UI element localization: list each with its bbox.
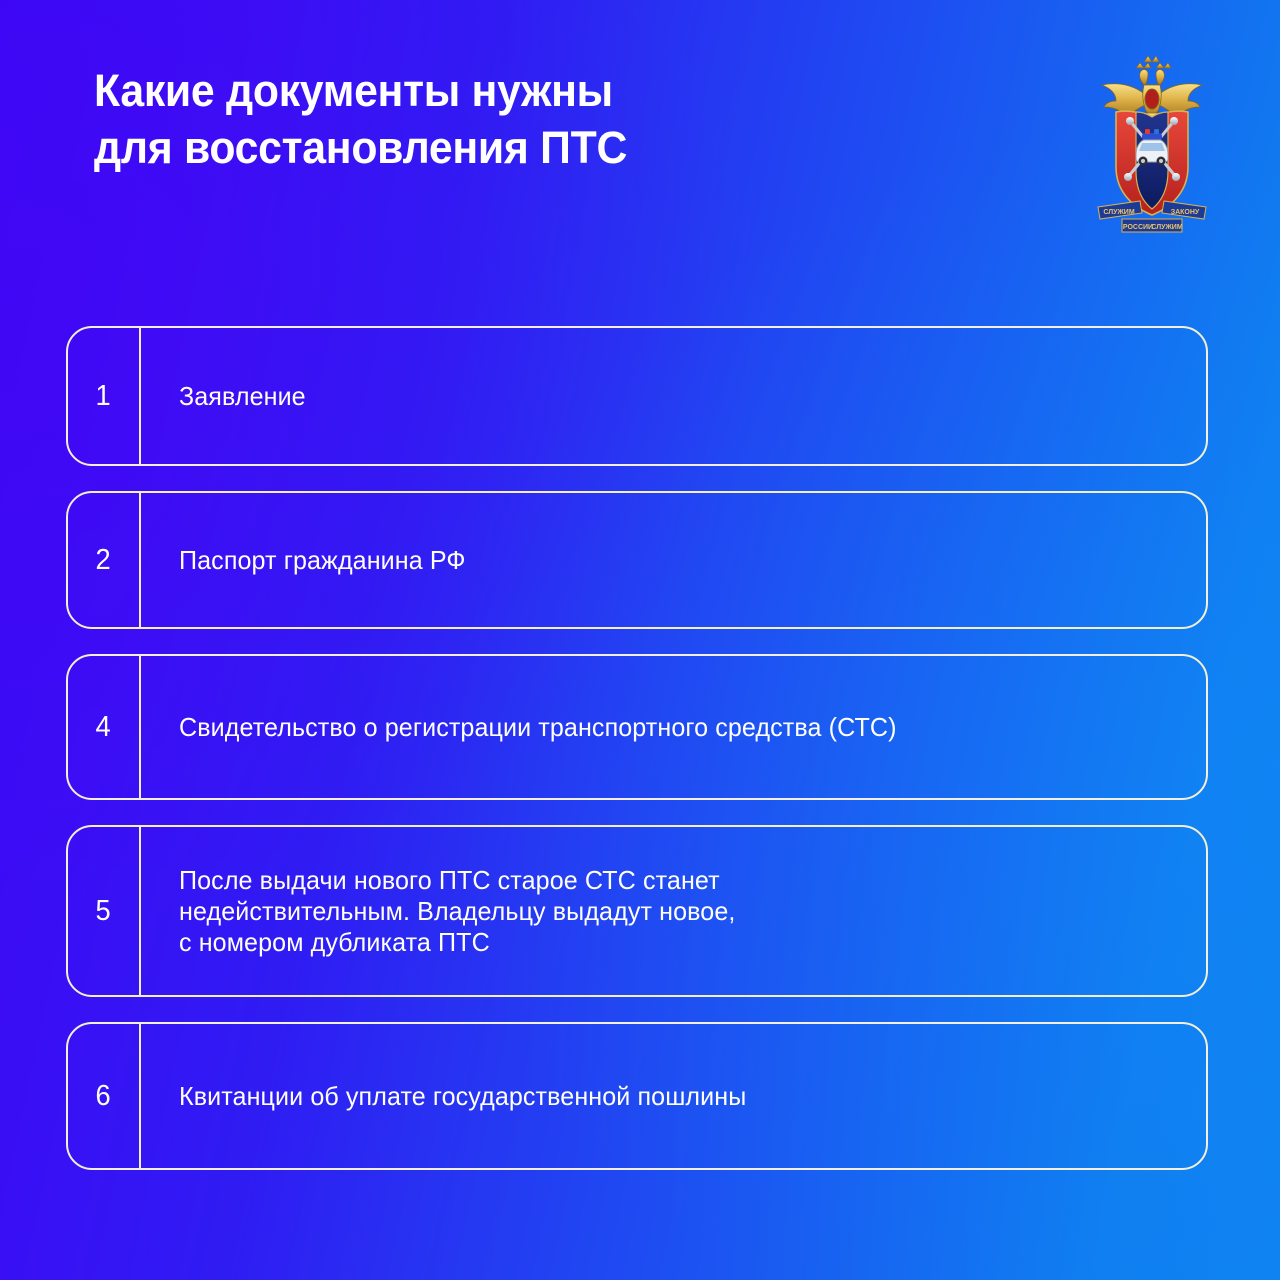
list-item-text: Свидетельство о регистрации транспортног… (179, 712, 897, 743)
list-item-text: Паспорт гражданина РФ (179, 545, 466, 576)
list-item-text-column: Квитанции об уплате государственной пошл… (141, 1024, 1206, 1168)
list-item-text-line: Заявление (179, 381, 306, 412)
list-item[interactable]: 1 Заявление (66, 326, 1208, 466)
title-line-2: для восстановления ПТС (94, 119, 997, 176)
list-item-number-column: 2 (68, 493, 141, 627)
list-item-number-column: 1 (68, 328, 141, 464)
list-item-text: Заявление (179, 381, 306, 412)
motto-center: РОССИИ (1123, 224, 1153, 231)
list-item[interactable]: 2 Паспорт гражданина РФ (66, 491, 1208, 629)
list-item-text-line: с номером дубликата ПТС (179, 927, 735, 958)
list-item-text-line: После выдачи нового ПТС старое СТС стане… (179, 865, 735, 896)
page-title: Какие документы нужны для восстановления… (94, 62, 1044, 176)
list-item-number-column: 6 (68, 1024, 141, 1168)
poster-canvas: Какие документы нужны для восстановления… (0, 0, 1280, 1280)
list-item-number: 6 (96, 1082, 111, 1111)
list-item[interactable]: 4 Свидетельство о регистрации транспортн… (66, 654, 1208, 800)
motto-left: СЛУЖИМ (1103, 209, 1135, 216)
list-item[interactable]: 6 Квитанции об уплате государственной по… (66, 1022, 1208, 1170)
list-item-number: 1 (96, 382, 111, 411)
list-item-text-line: недействительным. Владельцу выдадут ново… (179, 896, 735, 927)
list-item-number-column: 4 (68, 656, 141, 798)
gibdd-emblem-icon: СЛУЖИМ ЗАКОНУ РОССИИ СЛУЖИМ (1082, 55, 1222, 240)
list-item-text-column: Заявление (141, 328, 1206, 464)
motto-center2: СЛУЖИМ (1151, 224, 1183, 231)
list-item-text: После выдачи нового ПТС старое СТС стане… (179, 865, 735, 958)
list-item-text-column: После выдачи нового ПТС старое СТС стане… (141, 827, 1206, 995)
list-item-number: 4 (96, 713, 111, 742)
list-item-number-column: 5 (68, 827, 141, 995)
motto-right: ЗАКОНУ (1171, 209, 1200, 216)
list-item-number: 5 (96, 897, 111, 926)
list-item-text-line: Квитанции об уплате государственной пошл… (179, 1081, 746, 1112)
list-item-text-column: Паспорт гражданина РФ (141, 493, 1206, 627)
list-item-text-column: Свидетельство о регистрации транспортног… (141, 656, 1206, 798)
title-line-1: Какие документы нужны (94, 62, 997, 119)
list-item[interactable]: 5 После выдачи нового ПТС старое СТС ста… (66, 825, 1208, 997)
shield-icon (1116, 111, 1188, 215)
document-list: 1 Заявление 2 Паспорт гражданина РФ 4 (66, 326, 1208, 1170)
list-item-text-line: Свидетельство о регистрации транспортног… (179, 712, 897, 743)
list-item-number: 2 (96, 546, 111, 575)
list-item-text: Квитанции об уплате государственной пошл… (179, 1081, 746, 1112)
list-item-text-line: Паспорт гражданина РФ (179, 545, 466, 576)
